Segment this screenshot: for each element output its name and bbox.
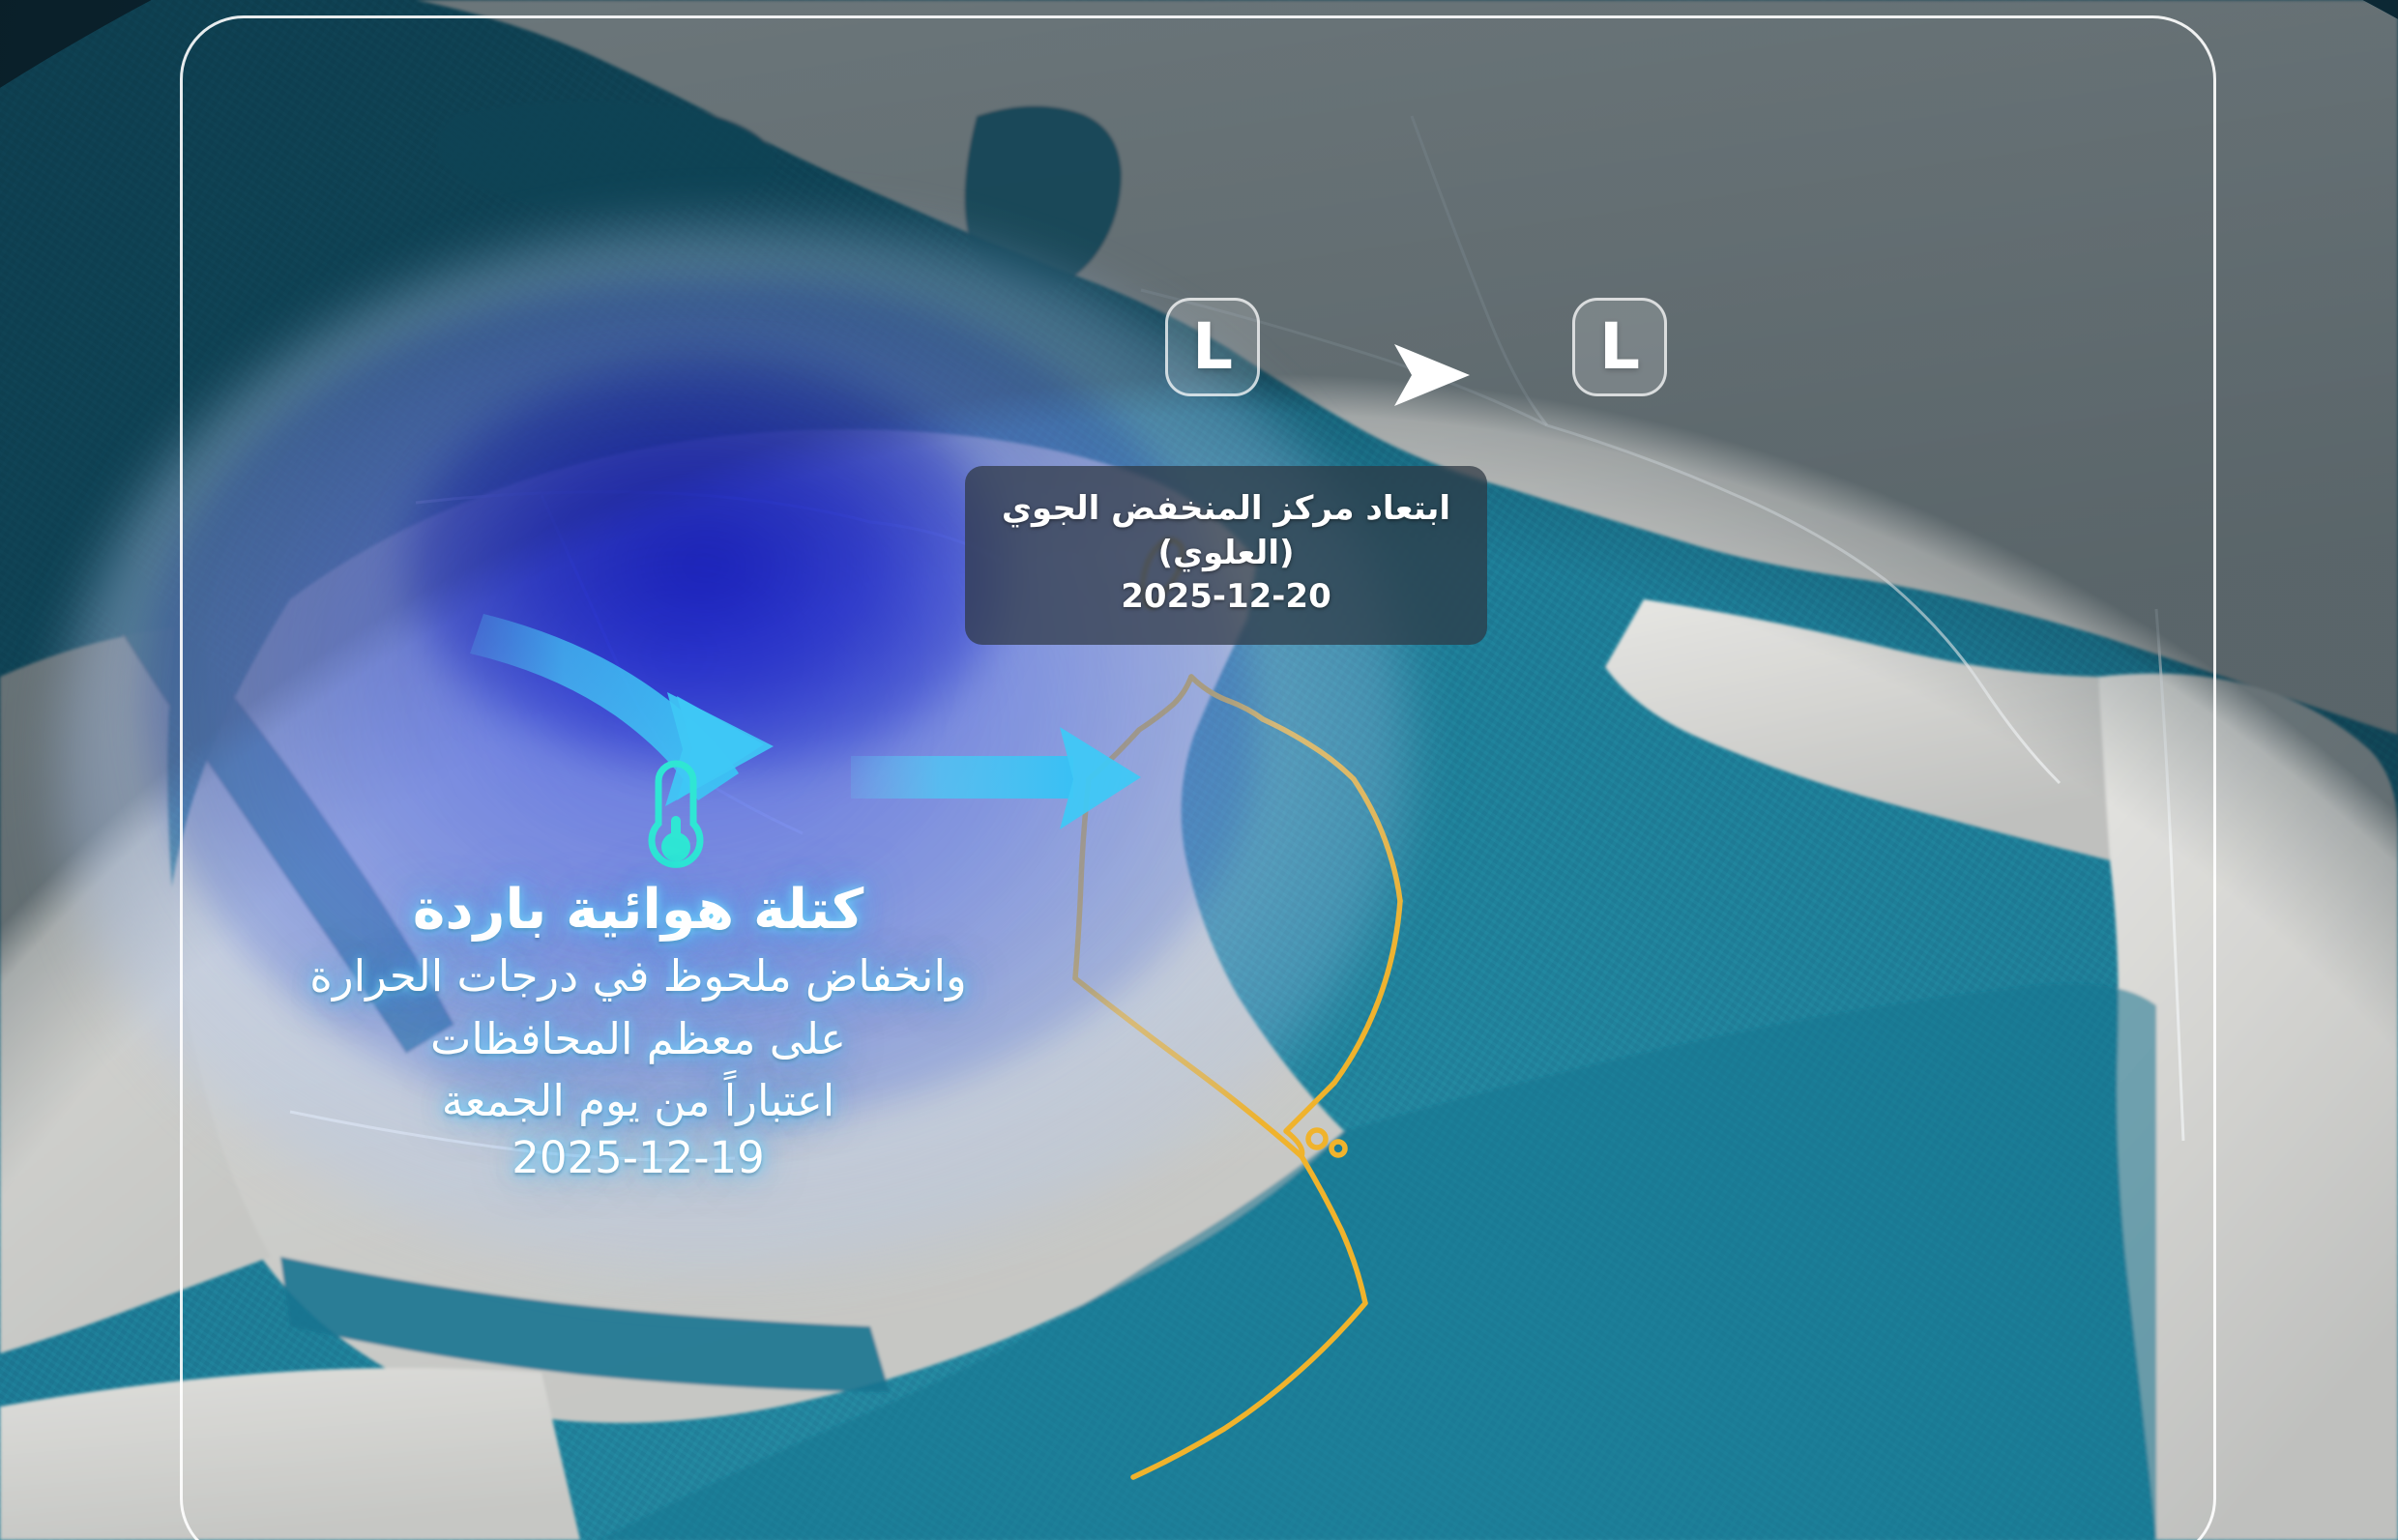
low-panel-line-2: (العلوي) xyxy=(998,532,1454,576)
low-pressure-label: L xyxy=(1599,315,1640,379)
low-pressure-label: L xyxy=(1192,315,1233,379)
low-pressure-marker-1[interactable]: L xyxy=(1165,298,1260,396)
drift-arrow-icon xyxy=(1389,338,1476,410)
low-panel-line-1: ابتعاد مركز المنخفض الجوي xyxy=(998,487,1454,532)
landmass-layer xyxy=(0,0,2398,1540)
low-pressure-marker-2[interactable]: L xyxy=(1572,298,1667,396)
globe xyxy=(0,0,2398,1540)
weather-map-graphic: L L ابتعاد مركز المنخفض الجوي (العلوي) 2… xyxy=(0,0,2398,1540)
low-panel-date: 2025-12-20 xyxy=(998,575,1454,620)
low-pressure-info-panel: ابتعاد مركز المنخفض الجوي (العلوي) 2025-… xyxy=(965,466,1487,645)
thermometer-icon xyxy=(638,752,714,878)
